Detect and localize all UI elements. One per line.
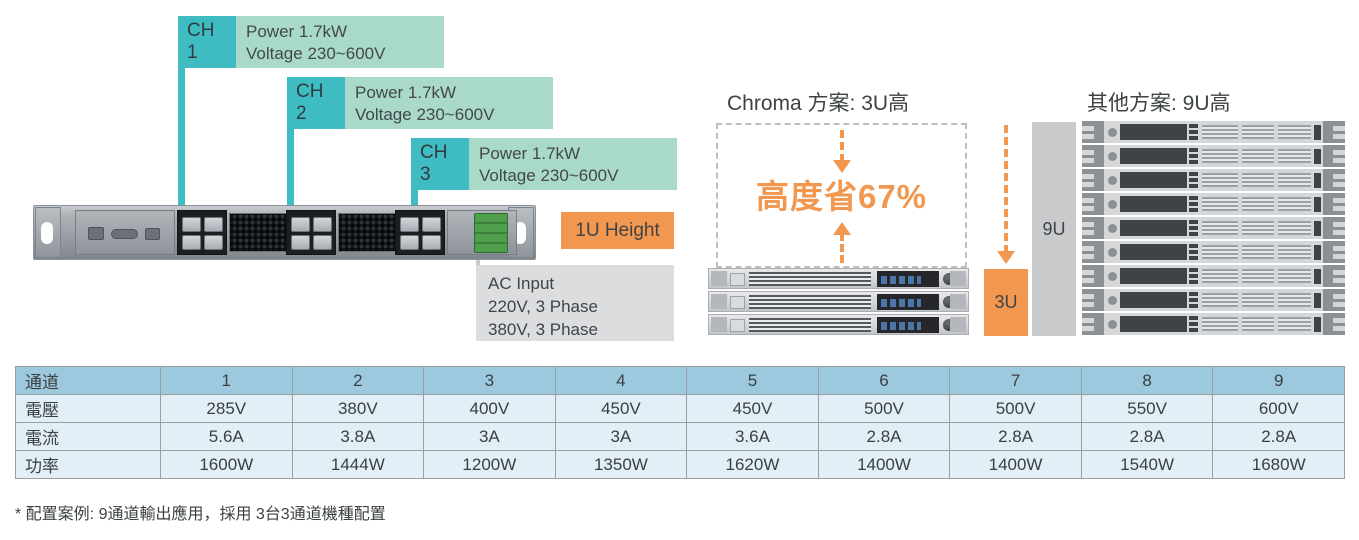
height-saving-text: 高度省67% <box>716 170 967 218</box>
status-leds-icon <box>1189 244 1198 260</box>
chroma-rack-stack-image <box>708 268 969 338</box>
table-row-label: 功率 <box>16 451 161 479</box>
table-cell: 450V <box>555 395 687 423</box>
table-header-ch-1: 1 <box>161 367 293 395</box>
table-cell: 450V <box>687 395 819 423</box>
front-display <box>1120 196 1187 212</box>
grille-divider <box>1238 245 1242 259</box>
other-rack-unit <box>1082 289 1345 311</box>
channel-2-output-bay <box>286 210 336 255</box>
channel-3-output-bay <box>395 210 445 255</box>
other-rack-unit <box>1082 121 1345 143</box>
other-rack-unit <box>1082 217 1345 239</box>
table-cell: 3A <box>555 423 687 451</box>
status-leds-icon <box>1189 292 1198 308</box>
table-cell: 1200W <box>424 451 556 479</box>
rack-bracket-icon <box>1323 265 1345 287</box>
side-indicator-icon <box>1314 293 1321 308</box>
rack-bracket-icon <box>1323 145 1345 167</box>
table-header-ch-3: 3 <box>424 367 556 395</box>
grille-divider <box>1238 173 1242 187</box>
device-rear-panel-image <box>33 205 536 260</box>
table-header-ch-7: 7 <box>950 367 1082 395</box>
other-solution-title: 其他方案: 9U高 <box>1087 87 1231 117</box>
grille-divider <box>1238 269 1242 283</box>
side-indicator-icon <box>1314 125 1321 140</box>
front-display <box>1120 268 1187 284</box>
side-indicator-icon <box>1314 269 1321 284</box>
other-rack-unit <box>1082 145 1345 167</box>
table-body: 電壓285V380V400V450V450V500V500V550V600V電流… <box>16 395 1345 479</box>
front-grille <box>749 272 871 286</box>
height-badge: 1U Height <box>561 212 674 249</box>
chroma-rack-unit <box>708 291 969 312</box>
front-badge-icon <box>730 273 745 286</box>
front-badge-icon <box>730 296 745 309</box>
grille-divider <box>1274 149 1278 163</box>
table-row-label: 電流 <box>16 423 161 451</box>
front-grille <box>1202 245 1311 259</box>
grille-divider <box>1238 221 1242 235</box>
front-grille <box>1202 221 1311 235</box>
status-leds-icon <box>1189 172 1198 188</box>
power-button-icon <box>1108 128 1117 137</box>
front-display <box>1120 316 1187 332</box>
chroma-solution-title: Chroma 方案: 3U高 <box>727 87 909 117</box>
table-cell: 3.6A <box>687 423 819 451</box>
side-indicator-icon <box>1314 173 1321 188</box>
ch2-connector-line <box>287 129 294 213</box>
table-row: 電流5.6A3.8A3A3A3.6A2.8A2.8A2.8A2.8A <box>16 423 1345 451</box>
table-cell: 1400W <box>818 451 950 479</box>
rack-bracket-icon <box>1323 121 1345 143</box>
rack-ear-icon <box>711 317 727 332</box>
table-header-ch-9: 9 <box>1213 367 1345 395</box>
status-leds-icon <box>1189 196 1198 212</box>
bar-9u-label: 9U <box>1042 219 1065 240</box>
grille-divider <box>1274 125 1278 139</box>
power-button-icon <box>1108 176 1117 185</box>
rack-bracket-icon <box>1323 313 1345 335</box>
usb-port-icon <box>145 228 160 240</box>
footnote: * 配置案例: 9通道輸出應用，採用 3台3通道機種配置 <box>15 500 386 524</box>
chroma-rack-unit <box>708 314 969 335</box>
front-display <box>1120 172 1187 188</box>
power-button-icon <box>1108 272 1117 281</box>
grille-divider <box>1238 293 1242 307</box>
table-cell: 3A <box>424 423 556 451</box>
saving-arrow-up-shaft <box>840 233 844 263</box>
front-grille <box>749 318 871 332</box>
front-display <box>877 317 939 333</box>
ch3-description: Power 1.7kW Voltage 230~600V <box>469 138 677 190</box>
ch1-chip-label: CH 1 <box>187 20 227 64</box>
ch1-description: Power 1.7kW Voltage 230~600V <box>236 16 444 68</box>
table-cell: 285V <box>161 395 293 423</box>
front-grille <box>1202 149 1311 163</box>
ac-input-label: AC Input 220V, 3 Phase 380V, 3 Phase <box>476 265 674 341</box>
table-cell: 2.8A <box>1081 423 1213 451</box>
front-grille <box>1202 317 1311 331</box>
rack-bracket-icon <box>1323 169 1345 191</box>
status-leds-icon <box>1189 148 1198 164</box>
front-display <box>1120 124 1187 140</box>
other-rack-stack-image <box>1082 121 1345 337</box>
front-display <box>877 271 939 287</box>
power-button-icon <box>1108 320 1117 329</box>
rack-bracket-icon <box>1323 241 1345 263</box>
table-cell: 500V <box>950 395 1082 423</box>
bar-3u: 3U <box>984 269 1028 336</box>
saving-arrow-down-shaft <box>840 130 844 162</box>
rack-bracket-icon <box>1082 169 1104 191</box>
u-compare-arrow-head <box>997 251 1015 264</box>
grille-divider <box>1274 245 1278 259</box>
table-cell: 2.8A <box>818 423 950 451</box>
rack-ear-icon <box>950 271 966 286</box>
grille-divider <box>1274 269 1278 283</box>
table-header-ch-4: 4 <box>555 367 687 395</box>
other-rack-unit <box>1082 241 1345 263</box>
table-header-row: 通道123456789 <box>16 367 1345 395</box>
table-cell: 1600W <box>161 451 293 479</box>
rack-bracket-icon <box>1082 313 1104 335</box>
status-leds-icon <box>1189 124 1198 140</box>
grille-divider <box>1274 317 1278 331</box>
front-grille <box>1202 269 1311 283</box>
power-button-icon <box>1108 224 1117 233</box>
front-display <box>1120 244 1187 260</box>
rack-bracket-icon <box>1323 289 1345 311</box>
table-cell: 3.8A <box>292 423 424 451</box>
rack-bracket-icon <box>1082 265 1104 287</box>
front-display <box>877 294 939 310</box>
rack-bracket-icon <box>1082 241 1104 263</box>
table-row-label: 電壓 <box>16 395 161 423</box>
ch2-description: Power 1.7kW Voltage 230~600V <box>345 77 553 129</box>
channel-spec-table: 通道123456789 電壓285V380V400V450V450V500V50… <box>15 366 1345 479</box>
front-grille <box>1202 197 1311 211</box>
ch1-chip: CH 1 <box>178 16 236 68</box>
rack-bracket-icon <box>1323 217 1345 239</box>
ch3-chip-label: CH 3 <box>420 142 460 186</box>
power-button-icon <box>1108 152 1117 161</box>
rack-bracket-icon <box>1082 289 1104 311</box>
table-cell: 1400W <box>950 451 1082 479</box>
status-leds-icon <box>1189 316 1198 332</box>
table-cell: 380V <box>292 395 424 423</box>
lan-port-icon <box>88 227 104 240</box>
side-indicator-icon <box>1314 221 1321 236</box>
table-cell: 1620W <box>687 451 819 479</box>
rack-bracket-icon <box>1082 193 1104 215</box>
table-cell: 400V <box>424 395 556 423</box>
table-row: 電壓285V380V400V450V450V500V500V550V600V <box>16 395 1345 423</box>
power-button-icon <box>1108 296 1117 305</box>
front-grille <box>1202 173 1311 187</box>
side-indicator-icon <box>1314 317 1321 332</box>
rack-ear-icon <box>711 271 727 286</box>
serial-port-icon <box>111 229 138 239</box>
table-cell: 1540W <box>1081 451 1213 479</box>
table-cell: 500V <box>818 395 950 423</box>
other-rack-unit <box>1082 193 1345 215</box>
rack-bracket-icon <box>1323 193 1345 215</box>
table-cell: 1444W <box>292 451 424 479</box>
front-grille <box>1202 125 1311 139</box>
ch1-connector-line <box>178 68 185 213</box>
grille-divider <box>1238 197 1242 211</box>
front-display <box>1120 148 1187 164</box>
rack-bracket-icon <box>1082 217 1104 239</box>
table-header-ch-5: 5 <box>687 367 819 395</box>
bar-3u-label: 3U <box>994 292 1017 313</box>
ch2-chip-label: CH 2 <box>296 81 336 125</box>
rack-ear-icon <box>950 317 966 332</box>
power-button-icon <box>1108 248 1117 257</box>
grille-divider <box>1238 149 1242 163</box>
side-indicator-icon <box>1314 197 1321 212</box>
ac-input-terminal-block <box>474 213 508 253</box>
rack-bracket-icon <box>1082 145 1104 167</box>
chroma-rack-unit <box>708 268 969 289</box>
grille-divider <box>1274 197 1278 211</box>
rack-ear-icon <box>711 294 727 309</box>
other-rack-unit <box>1082 313 1345 335</box>
side-indicator-icon <box>1314 245 1321 260</box>
rack-ear-left <box>35 207 61 258</box>
table-header-ch-2: 2 <box>292 367 424 395</box>
status-leds-icon <box>1189 220 1198 236</box>
other-rack-unit <box>1082 265 1345 287</box>
table-row: 功率1600W1444W1200W1350W1620W1400W1400W154… <box>16 451 1345 479</box>
grille-divider <box>1274 221 1278 235</box>
bar-9u: 9U <box>1032 122 1076 336</box>
table-header-ch-8: 8 <box>1081 367 1213 395</box>
grille-divider <box>1238 125 1242 139</box>
front-display <box>1120 220 1187 236</box>
ch2-chip: CH 2 <box>287 77 345 129</box>
side-indicator-icon <box>1314 149 1321 164</box>
table-cell: 1680W <box>1213 451 1345 479</box>
table-cell: 2.8A <box>950 423 1082 451</box>
height-badge-label: 1U Height <box>575 220 660 242</box>
channel-1-output-bay <box>177 210 227 255</box>
front-badge-icon <box>730 319 745 332</box>
table-cell: 5.6A <box>161 423 293 451</box>
saving-arrow-up-head <box>833 222 851 235</box>
table-cell: 550V <box>1081 395 1213 423</box>
u-compare-arrow-shaft <box>1004 125 1008 253</box>
table-cell: 1350W <box>555 451 687 479</box>
front-grille <box>749 295 871 309</box>
status-leds-icon <box>1189 268 1198 284</box>
table-cell: 600V <box>1213 395 1345 423</box>
table-cell: 2.8A <box>1213 423 1345 451</box>
table-header-ch-6: 6 <box>818 367 950 395</box>
grille-divider <box>1274 293 1278 307</box>
front-grille <box>1202 293 1311 307</box>
rack-bracket-icon <box>1082 121 1104 143</box>
front-display <box>1120 292 1187 308</box>
grille-divider <box>1274 173 1278 187</box>
table-header-channel: 通道 <box>16 367 161 395</box>
rack-ear-icon <box>950 294 966 309</box>
other-rack-unit <box>1082 169 1345 191</box>
ch3-chip: CH 3 <box>411 138 469 190</box>
grille-divider <box>1238 317 1242 331</box>
power-button-icon <box>1108 200 1117 209</box>
